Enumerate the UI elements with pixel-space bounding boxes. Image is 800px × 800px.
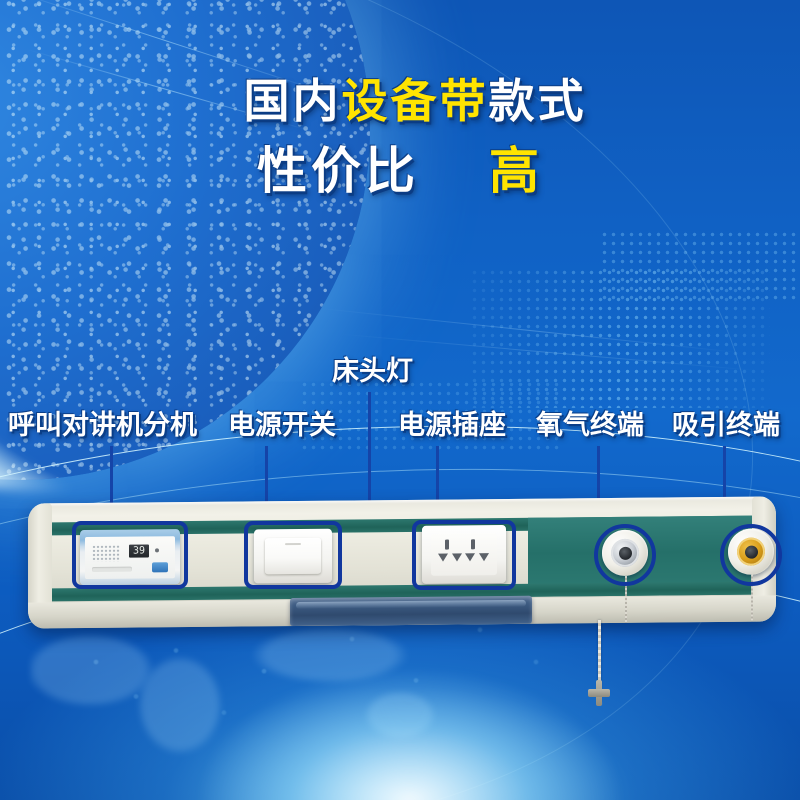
banner-title-block: 国内设备带款式 性价比高 (0, 78, 800, 196)
callout-label-oxygen: 氧气终端 (536, 412, 644, 439)
highlight-circle-suction (720, 524, 782, 586)
subheadline-right: 高 (489, 143, 543, 199)
highlight-box-switch (244, 521, 342, 589)
bed-lamp-diffuser[interactable] (290, 596, 532, 626)
headline-part-1: 国内 (244, 75, 342, 127)
subheadline: 性价比高 (0, 146, 800, 196)
pull-cord[interactable] (598, 620, 601, 688)
callout-label-socket: 电源插座 (398, 412, 506, 439)
subheadline-left: 性价比 (257, 143, 419, 199)
highlight-box-intercom (72, 521, 188, 589)
headline-part-3: 款式 (489, 75, 587, 127)
medical-equipment-panel: 39 (28, 500, 776, 625)
highlight-circle-oxygen (594, 524, 656, 586)
callout-label-intercom: 呼叫对讲机分机 (8, 412, 197, 439)
highlight-box-socket (412, 520, 516, 590)
callout-label-bedlamp: 床头灯 (332, 358, 413, 385)
headline-part-2: 设备带 (342, 75, 489, 127)
callout-label-suction: 吸引终端 (672, 412, 780, 439)
headline: 国内设备带款式 (30, 78, 800, 124)
bed-lamp-gloss (296, 600, 526, 609)
callout-label-switch: 电源开关 (228, 412, 336, 439)
poster-canvas: 国内设备带款式 性价比高 呼叫对讲机分机 电源开关 床头灯 电源插座 氧气终端 … (0, 0, 800, 800)
pull-cord-pendant[interactable] (588, 680, 610, 706)
